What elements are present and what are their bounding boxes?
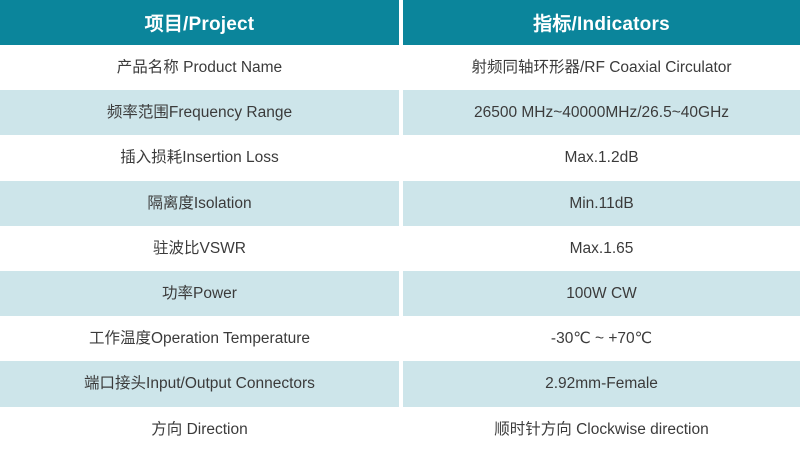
cell-indicator: 26500 MHz~40000MHz/26.5~40GHz bbox=[403, 90, 800, 135]
cell-project: 工作温度Operation Temperature bbox=[0, 316, 399, 361]
cell-indicator: 2.92mm-Female bbox=[403, 361, 800, 406]
table-row: 工作温度Operation Temperature-30℃ ~ +70℃ bbox=[0, 316, 800, 361]
table-row: 产品名称 Product Name射频同轴环形器/RF Coaxial Circ… bbox=[0, 45, 800, 90]
cell-indicator: Min.11dB bbox=[403, 181, 800, 226]
cell-indicator: Max.1.2dB bbox=[403, 135, 800, 180]
table-row: 方向 Direction顺时针方向 Clockwise direction bbox=[0, 407, 800, 452]
table-row: 功率Power100W CW bbox=[0, 271, 800, 316]
cell-indicator: 100W CW bbox=[403, 271, 800, 316]
column-header-project: 项目/Project bbox=[0, 0, 399, 45]
cell-project: 驻波比VSWR bbox=[0, 226, 399, 271]
cell-project: 端口接头Input/Output Connectors bbox=[0, 361, 399, 406]
cell-project: 频率范围Frequency Range bbox=[0, 90, 399, 135]
cell-indicator: -30℃ ~ +70℃ bbox=[403, 316, 800, 361]
table-header-row: 项目/Project 指标/Indicators bbox=[0, 0, 800, 45]
cell-project: 方向 Direction bbox=[0, 407, 399, 452]
cell-project: 插入损耗Insertion Loss bbox=[0, 135, 399, 180]
cell-project: 产品名称 Product Name bbox=[0, 45, 399, 90]
table-body: 产品名称 Product Name射频同轴环形器/RF Coaxial Circ… bbox=[0, 45, 800, 452]
table-row: 插入损耗Insertion LossMax.1.2dB bbox=[0, 135, 800, 180]
table-row: 频率范围Frequency Range26500 MHz~40000MHz/26… bbox=[0, 90, 800, 135]
cell-indicator: 射频同轴环形器/RF Coaxial Circulator bbox=[403, 45, 800, 90]
cell-indicator: Max.1.65 bbox=[403, 226, 800, 271]
table-row: 端口接头Input/Output Connectors2.92mm-Female bbox=[0, 361, 800, 406]
specification-table: 项目/Project 指标/Indicators 产品名称 Product Na… bbox=[0, 0, 800, 452]
cell-project: 功率Power bbox=[0, 271, 399, 316]
table-row: 隔离度IsolationMin.11dB bbox=[0, 181, 800, 226]
column-header-indicators: 指标/Indicators bbox=[403, 0, 800, 45]
cell-project: 隔离度Isolation bbox=[0, 181, 399, 226]
table-row: 驻波比VSWRMax.1.65 bbox=[0, 226, 800, 271]
cell-indicator: 顺时针方向 Clockwise direction bbox=[403, 407, 800, 452]
